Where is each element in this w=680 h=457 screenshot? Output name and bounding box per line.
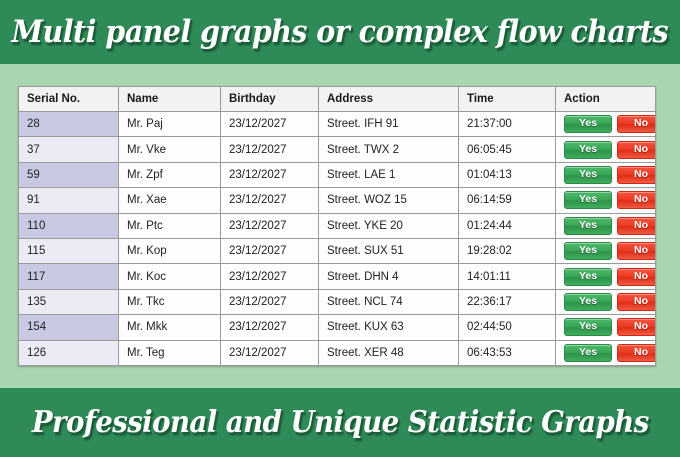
table-row[interactable]: 154Mr. Mkk23/12/2027Street. KUX 6302:44:… <box>19 315 656 340</box>
yes-button[interactable]: Yes <box>564 268 612 286</box>
table-row[interactable]: 135Mr. Tkc23/12/2027Street. NCL 7422:36:… <box>19 289 656 314</box>
table-row[interactable]: 117Mr. Koc23/12/2027Street. DHN 414:01:1… <box>19 264 656 289</box>
cell-action: YesNo <box>556 213 656 238</box>
yes-button[interactable]: Yes <box>564 293 612 311</box>
table-row[interactable]: 115Mr. Kop23/12/2027Street. SUX 5119:28:… <box>19 238 656 263</box>
action-button-group: YesNo <box>564 242 647 260</box>
cell-address: Street. NCL 74 <box>319 289 459 314</box>
cell-name: Mr. Tkc <box>119 289 221 314</box>
yes-button[interactable]: Yes <box>564 141 612 159</box>
table-body: 28Mr. Paj23/12/2027Street. IFH 9121:37:0… <box>19 112 656 366</box>
cell-action: YesNo <box>556 238 656 263</box>
cell-address: Street. LAE 1 <box>319 162 459 187</box>
action-button-group: YesNo <box>564 115 647 133</box>
cell-action: YesNo <box>556 264 656 289</box>
bottom-banner: Professional and Unique Statistic Graphs <box>0 388 680 457</box>
cell-birthday: 23/12/2027 <box>221 162 319 187</box>
cell-name: Mr. Vke <box>119 137 221 162</box>
column-header-serial[interactable]: Serial No. <box>19 87 119 112</box>
no-button[interactable]: No <box>617 318 656 336</box>
cell-birthday: 23/12/2027 <box>221 137 319 162</box>
cell-serial: 126 <box>19 340 119 365</box>
yes-button[interactable]: Yes <box>564 344 612 362</box>
cell-name: Mr. Ptc <box>119 213 221 238</box>
column-header-action[interactable]: Action <box>556 87 656 112</box>
cell-serial: 154 <box>19 315 119 340</box>
column-header-name[interactable]: Name <box>119 87 221 112</box>
cell-action: YesNo <box>556 315 656 340</box>
cell-address: Street. SUX 51 <box>319 238 459 263</box>
cell-time: 06:43:53 <box>459 340 556 365</box>
no-button[interactable]: No <box>617 141 656 159</box>
table-row[interactable]: 126Mr. Teg23/12/2027Street. XER 4806:43:… <box>19 340 656 365</box>
cell-action: YesNo <box>556 188 656 213</box>
cell-serial: 37 <box>19 137 119 162</box>
cell-name: Mr. Kop <box>119 238 221 263</box>
yes-button[interactable]: Yes <box>564 217 612 235</box>
cell-serial: 115 <box>19 238 119 263</box>
bottom-banner-title: Professional and Unique Statistic Graphs <box>32 408 649 438</box>
data-table-container: Serial No. Name Birthday Address Time Ac… <box>18 86 655 366</box>
cell-time: 22:36:17 <box>459 289 556 314</box>
table-row[interactable]: 37Mr. Vke23/12/2027Street. TWX 206:05:45… <box>19 137 656 162</box>
cell-address: Street. YKE 20 <box>319 213 459 238</box>
cell-time: 06:14:59 <box>459 188 556 213</box>
yes-button[interactable]: Yes <box>564 166 612 184</box>
no-button[interactable]: No <box>617 191 656 209</box>
column-header-time[interactable]: Time <box>459 87 556 112</box>
cell-name: Mr. Teg <box>119 340 221 365</box>
no-button[interactable]: No <box>617 115 656 133</box>
cell-action: YesNo <box>556 340 656 365</box>
cell-birthday: 23/12/2027 <box>221 340 319 365</box>
cell-time: 06:05:45 <box>459 137 556 162</box>
no-button[interactable]: No <box>617 344 656 362</box>
cell-time: 01:04:13 <box>459 162 556 187</box>
cell-address: Street. KUX 63 <box>319 315 459 340</box>
table-header: Serial No. Name Birthday Address Time Ac… <box>19 87 656 112</box>
table-header-row: Serial No. Name Birthday Address Time Ac… <box>19 87 656 112</box>
cell-serial: 91 <box>19 188 119 213</box>
action-button-group: YesNo <box>564 293 647 311</box>
cell-serial: 28 <box>19 112 119 137</box>
cell-serial: 117 <box>19 264 119 289</box>
action-button-group: YesNo <box>564 318 647 336</box>
cell-time: 21:37:00 <box>459 112 556 137</box>
action-button-group: YesNo <box>564 166 647 184</box>
cell-birthday: 23/12/2027 <box>221 264 319 289</box>
cell-time: 01:24:44 <box>459 213 556 238</box>
cell-action: YesNo <box>556 112 656 137</box>
table-row[interactable]: 110Mr. Ptc23/12/2027Street. YKE 2001:24:… <box>19 213 656 238</box>
yes-button[interactable]: Yes <box>564 191 612 209</box>
yes-button[interactable]: Yes <box>564 115 612 133</box>
table-row[interactable]: 59Mr. Zpf23/12/2027Street. LAE 101:04:13… <box>19 162 656 187</box>
cell-address: Street. TWX 2 <box>319 137 459 162</box>
no-button[interactable]: No <box>617 242 656 260</box>
action-button-group: YesNo <box>564 217 647 235</box>
cell-serial: 135 <box>19 289 119 314</box>
page-root: Multi panel graphs or complex flow chart… <box>0 0 680 457</box>
column-header-birthday[interactable]: Birthday <box>221 87 319 112</box>
cell-birthday: 23/12/2027 <box>221 188 319 213</box>
cell-birthday: 23/12/2027 <box>221 238 319 263</box>
data-table: Serial No. Name Birthday Address Time Ac… <box>18 86 656 366</box>
cell-action: YesNo <box>556 289 656 314</box>
no-button[interactable]: No <box>617 166 656 184</box>
cell-birthday: 23/12/2027 <box>221 213 319 238</box>
cell-time: 19:28:02 <box>459 238 556 263</box>
table-row[interactable]: 28Mr. Paj23/12/2027Street. IFH 9121:37:0… <box>19 112 656 137</box>
cell-address: Street. IFH 91 <box>319 112 459 137</box>
cell-name: Mr. Koc <box>119 264 221 289</box>
yes-button[interactable]: Yes <box>564 242 612 260</box>
table-row[interactable]: 91Mr. Xae23/12/2027Street. WOZ 1506:14:5… <box>19 188 656 213</box>
cell-action: YesNo <box>556 137 656 162</box>
action-button-group: YesNo <box>564 344 647 362</box>
cell-birthday: 23/12/2027 <box>221 112 319 137</box>
cell-serial: 59 <box>19 162 119 187</box>
cell-name: Mr. Xae <box>119 188 221 213</box>
cell-birthday: 23/12/2027 <box>221 289 319 314</box>
action-button-group: YesNo <box>564 141 647 159</box>
cell-name: Mr. Zpf <box>119 162 221 187</box>
cell-birthday: 23/12/2027 <box>221 315 319 340</box>
column-header-address[interactable]: Address <box>319 87 459 112</box>
no-button[interactable]: No <box>617 293 656 311</box>
cell-address: Street. XER 48 <box>319 340 459 365</box>
top-banner: Multi panel graphs or complex flow chart… <box>0 0 680 64</box>
no-button[interactable]: No <box>617 268 656 286</box>
cell-time: 02:44:50 <box>459 315 556 340</box>
top-banner-title: Multi panel graphs or complex flow chart… <box>12 17 668 48</box>
action-button-group: YesNo <box>564 191 647 209</box>
no-button[interactable]: No <box>617 217 656 235</box>
cell-action: YesNo <box>556 162 656 187</box>
cell-name: Mr. Paj <box>119 112 221 137</box>
yes-button[interactable]: Yes <box>564 318 612 336</box>
cell-address: Street. DHN 4 <box>319 264 459 289</box>
cell-time: 14:01:11 <box>459 264 556 289</box>
cell-name: Mr. Mkk <box>119 315 221 340</box>
action-button-group: YesNo <box>564 268 647 286</box>
cell-address: Street. WOZ 15 <box>319 188 459 213</box>
cell-serial: 110 <box>19 213 119 238</box>
